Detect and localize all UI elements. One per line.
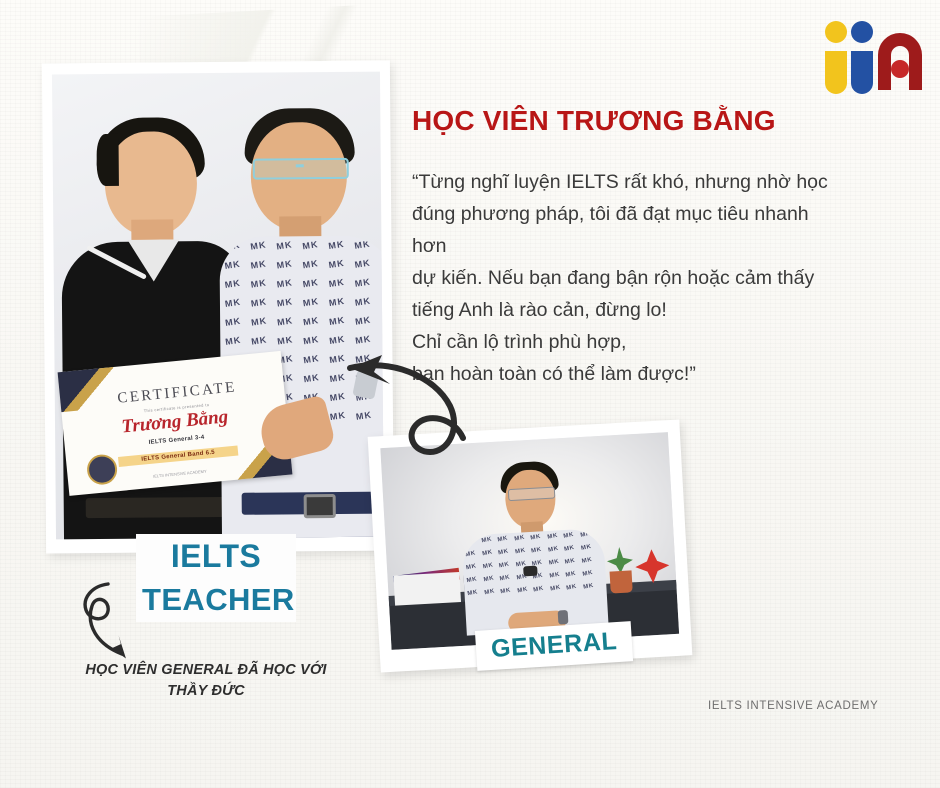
certificate-band: IELTS General Band 6.5	[118, 445, 238, 466]
glasses-icon	[253, 158, 349, 180]
bottom-caption: HỌC VIÊN GENERAL ĐÃ HỌC VỚI THẦY ĐỨC	[60, 660, 352, 702]
student-photo-image: MKMKMKMKMKMKMKMKMKMKMKMKMKMKMKMKMKMKMKMK…	[52, 72, 384, 540]
teacher-belt-buckle	[304, 494, 336, 518]
video-thumbnail-image: MKMKMKMKMKMKMKMKMKMKMKMKMKMKMKMKMKMKMKMK…	[380, 432, 679, 650]
book-stack	[393, 572, 461, 606]
bottom-caption-line: HỌC VIÊN GENERAL ĐÃ HỌC VỚI	[60, 660, 352, 681]
person-belt	[86, 497, 226, 518]
quote-line: đúng phương pháp, tôi đã đạt mục tiêu nh…	[412, 198, 902, 230]
mk-glyph: MK	[355, 406, 374, 427]
mk-glyph: MK	[499, 585, 512, 600]
bottom-caption-line: THẦY ĐỨC	[60, 681, 352, 702]
footer-brand: IELTS INTENSIVE ACADEMY	[708, 700, 879, 712]
quote-line: dự kiến. Nếu bạn đang bận rộn hoặc cảm t…	[412, 262, 902, 294]
lapel-microphone	[523, 566, 538, 577]
mk-glyph: MK	[329, 406, 348, 427]
iia-logo	[822, 18, 926, 96]
presenter-watch	[558, 610, 569, 625]
quote-line: Chỉ cần lộ trình phù hợp,	[412, 326, 902, 358]
certificate: CERTIFICATE This certificate is presente…	[58, 351, 293, 496]
ielts-teacher-line2: TEACHER	[136, 578, 296, 622]
mk-glyph: MK	[582, 580, 595, 595]
student-certificate-photo: MKMKMKMKMKMKMKMKMKMKMKMKMKMKMKMKMKMKMKMK…	[42, 60, 394, 553]
quote-line: hơn	[412, 230, 902, 262]
quote-line: “Từng nghĩ luyện IELTS rất khó, nhưng nh…	[412, 166, 902, 198]
iia-logo-icon	[822, 18, 926, 96]
mk-glyph: MK	[483, 585, 496, 600]
quote-line: bạn hoàn toàn có thể làm được!”	[412, 358, 902, 390]
mk-glyph: MK	[549, 582, 562, 597]
page-title: HỌC VIÊN TRƯƠNG BẰNG	[412, 106, 912, 137]
mk-glyph: MK	[466, 586, 479, 601]
ielts-teacher-line1: IELTS	[136, 534, 296, 578]
glasses-bridge	[296, 164, 304, 167]
quote-line: tiếng Anh là rào cản, đừng lo!	[412, 294, 902, 326]
person-hair-side	[96, 134, 118, 186]
plant-pot	[610, 570, 633, 593]
general-badge-label: GENERAL	[490, 627, 618, 663]
mk-glyph: MK	[565, 581, 578, 596]
mk-glyph: MK	[532, 583, 545, 598]
general-badge: GENERAL	[475, 621, 634, 671]
ielts-teacher-label: IELTS TEACHER	[136, 534, 296, 622]
mk-glyph: MK	[516, 584, 529, 599]
testimonial-quote: “Từng nghĩ luyện IELTS rất khó, nhưng nh…	[412, 166, 902, 390]
